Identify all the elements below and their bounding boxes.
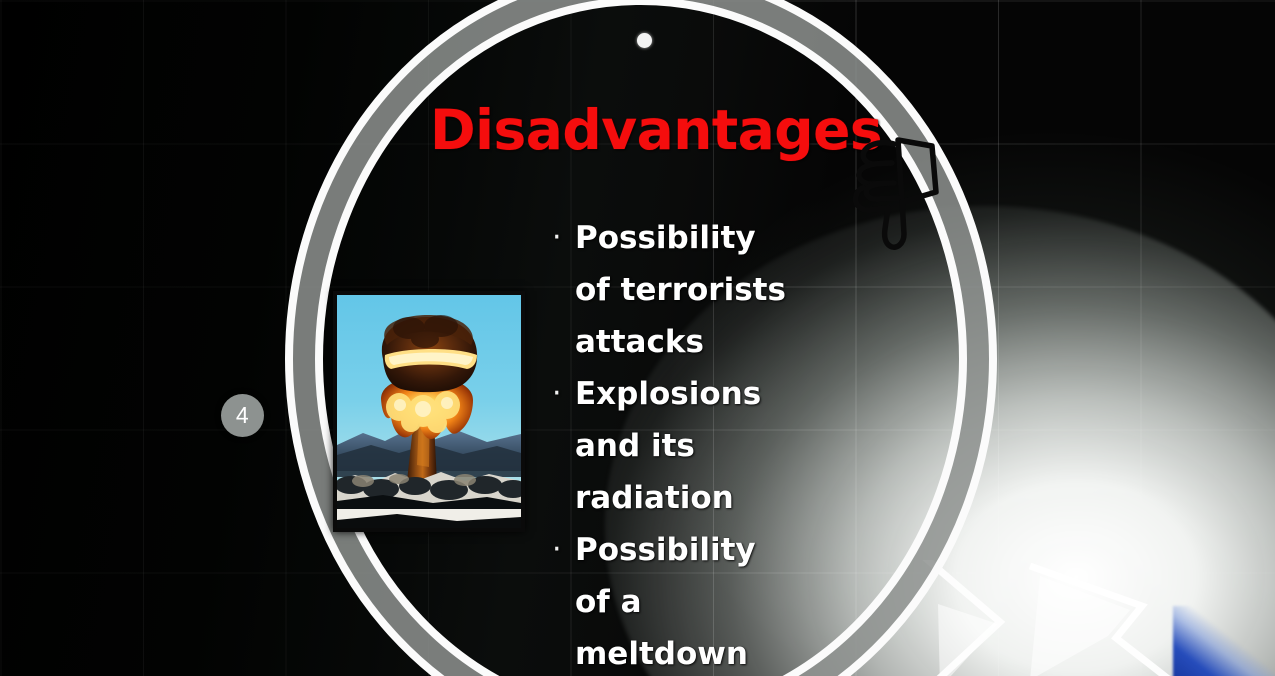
- bullet-marker-spacer: [547, 420, 575, 472]
- list-item: meltdown: [547, 628, 877, 676]
- list-item: of a: [547, 576, 877, 628]
- bullet-marker-spacer: [547, 316, 575, 368]
- list-item-text: of terrorists: [575, 264, 786, 316]
- list-item-text: Possibility: [575, 524, 756, 576]
- list-item: · Explosions: [547, 368, 877, 420]
- list-item: radiation: [547, 472, 877, 524]
- bullet-marker-spacer: [547, 264, 575, 316]
- bullet-marker: ·: [547, 524, 575, 576]
- list-item: · Possibility: [547, 524, 877, 576]
- page-title: Disadvantages: [430, 98, 882, 162]
- list-item-text: of a: [575, 576, 642, 628]
- bullet-marker: ·: [547, 368, 575, 420]
- slide-canvas: 4 Disadvantages: [0, 0, 1275, 676]
- list-item-text: and its: [575, 420, 695, 472]
- bullet-list: · Possibility of terrorists attacks · Ex…: [547, 212, 877, 676]
- list-item-text: meltdown: [575, 628, 748, 676]
- list-item: and its: [547, 420, 877, 472]
- list-item: · Possibility: [547, 212, 877, 264]
- bullet-marker-spacer: [547, 576, 575, 628]
- list-item-text: Possibility: [575, 212, 756, 264]
- ring-marker-dot: [637, 33, 652, 48]
- bullet-marker-spacer: [547, 628, 575, 676]
- bullet-marker-spacer: [547, 472, 575, 524]
- list-item-text: attacks: [575, 316, 704, 368]
- nuclear-mushroom-cloud-image: [333, 291, 525, 532]
- blue-corner-accent: [1173, 606, 1275, 676]
- bullet-marker: ·: [547, 212, 575, 264]
- list-item-text: radiation: [575, 472, 734, 524]
- list-item: of terrorists: [547, 264, 877, 316]
- slide-number-badge[interactable]: 4: [221, 394, 264, 437]
- list-item: attacks: [547, 316, 877, 368]
- list-item-text: Explosions: [575, 368, 761, 420]
